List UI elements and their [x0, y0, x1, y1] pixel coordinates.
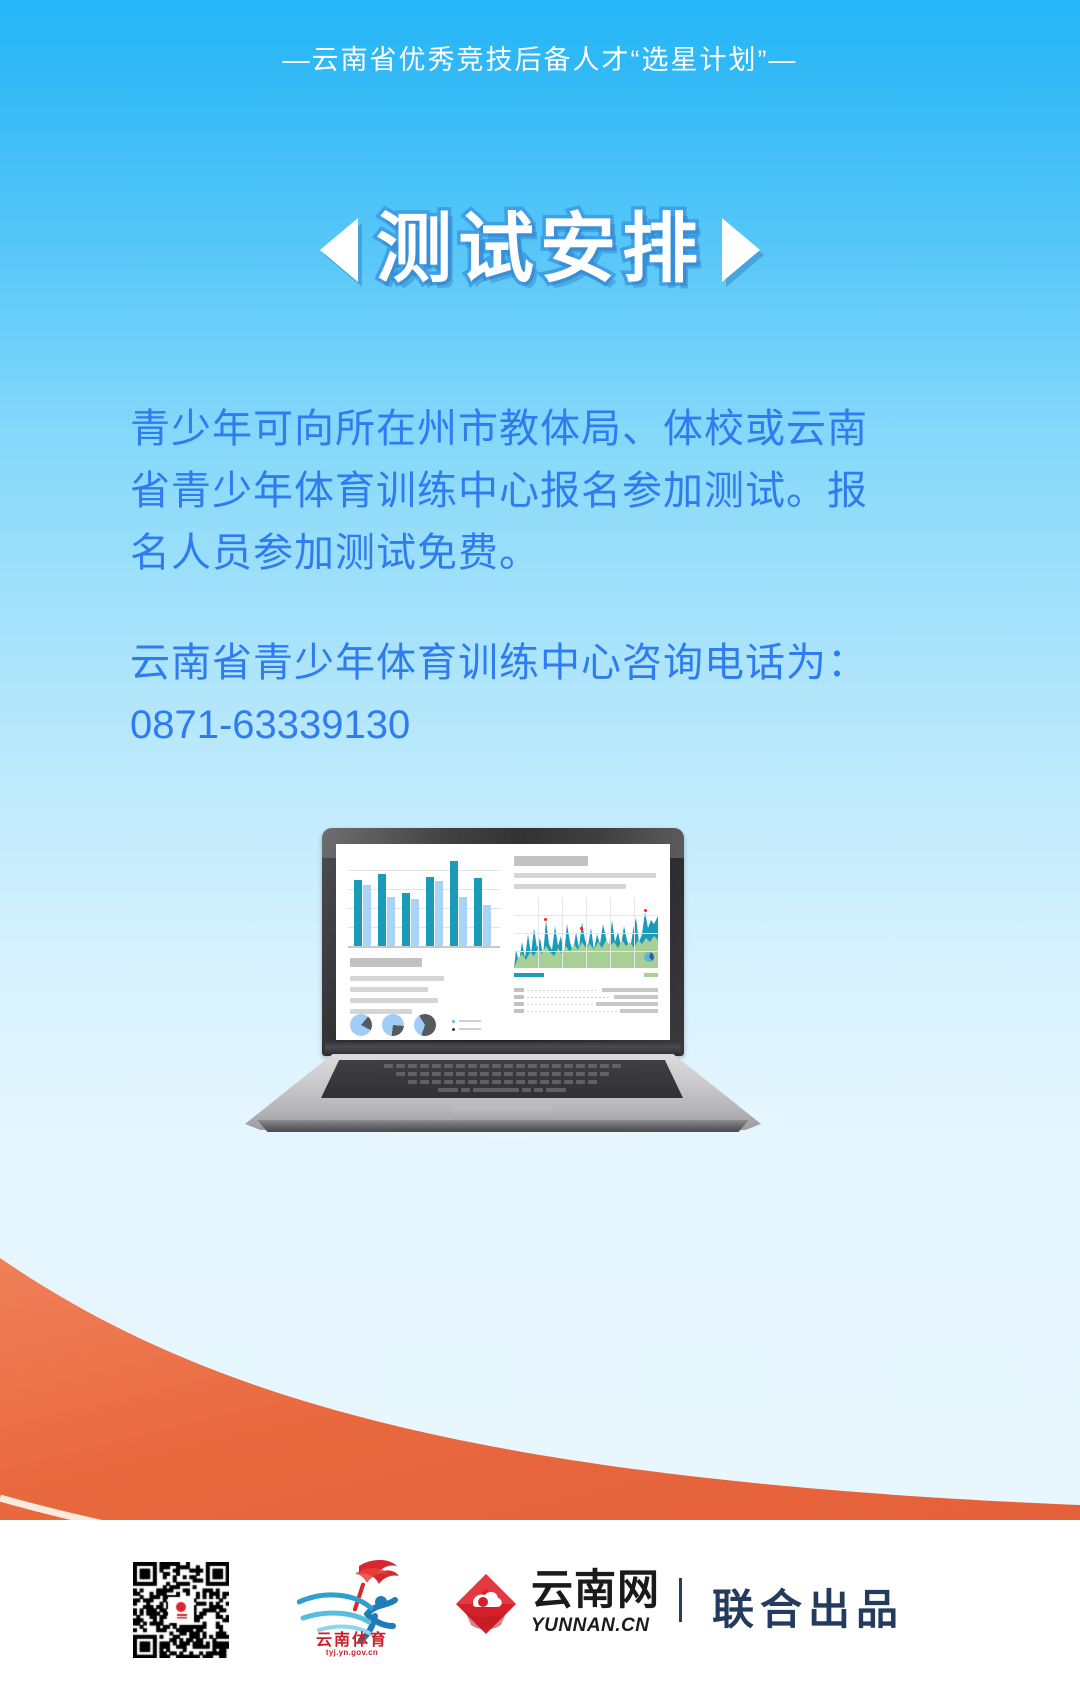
text-placeholder — [350, 958, 422, 967]
pie-chart — [414, 1014, 436, 1036]
data-point-marker — [544, 918, 547, 921]
data-point-marker — [580, 927, 583, 930]
text-placeholder — [350, 987, 428, 992]
data-point-marker — [644, 909, 647, 912]
laptop-hinge — [325, 1042, 681, 1056]
pie-chart — [382, 1014, 404, 1036]
table-row — [514, 995, 658, 999]
text-placeholder — [350, 976, 444, 981]
pie-chart — [350, 1014, 372, 1036]
laptop-vent — [291, 1123, 471, 1127]
pie-chart-group — [350, 1014, 481, 1036]
laptop-trackpad — [453, 1106, 553, 1115]
paragraph-spacer — [130, 584, 890, 632]
hotline-number[interactable]: 0871-63339130 — [130, 694, 890, 756]
table-row — [514, 988, 658, 992]
page-title-text: 测试安排 — [376, 212, 704, 288]
laptop-port — [677, 1124, 723, 1127]
text-placeholder — [514, 873, 656, 878]
dashboard-canvas — [336, 844, 670, 1040]
yunnan-net-cn: 云南网 — [531, 1570, 660, 1612]
area-chart-legend — [514, 973, 658, 977]
sports-logo-label: 云南体育 — [297, 1626, 407, 1650]
text-placeholder — [350, 998, 438, 1003]
paragraph-registration: 青少年可向所在州市教体局、体校或云南省青少年体育训练中心报名参加测试。报名人员参… — [130, 398, 890, 584]
page-title: 测试安排 — [0, 212, 1080, 288]
poster-root: —云南省优秀竞技后备人才“选星计划”— 测试安排 青少年可向所在州市教体局、体校… — [0, 0, 1080, 1701]
triangle-right-icon — [722, 218, 760, 282]
triangle-left-icon — [320, 218, 358, 282]
joint-production-label: 联合出品 — [712, 1576, 904, 1637]
laptop-keyboard — [321, 1060, 683, 1098]
laptop-lid — [322, 828, 684, 1056]
text-placeholder — [514, 856, 588, 866]
mini-pie-icon — [644, 952, 654, 962]
area-chart — [514, 898, 658, 968]
bar-chart — [348, 856, 500, 948]
data-table — [514, 988, 658, 1016]
pie-legend — [452, 1020, 481, 1031]
paragraph-hotline-label: 云南省青少年体育训练中心咨询电话为： — [130, 632, 890, 694]
body-copy: 青少年可向所在州市教体局、体校或云南省青少年体育训练中心报名参加测试。报名人员参… — [130, 398, 890, 756]
footer-divider — [679, 1578, 682, 1622]
eyebrow-heading: —云南省优秀竞技后备人才“选星计划”— — [0, 38, 1080, 77]
yunnan-net-en: YUNNAN.CN — [531, 1615, 660, 1637]
yunnan-net-wordmark: 云南网 YUNNAN.CN — [531, 1570, 660, 1637]
text-placeholder — [514, 884, 626, 889]
sports-logo-url: tyj.yn.gov.cn — [297, 1648, 407, 1657]
yunnan-net-diamond-icon — [455, 1573, 517, 1635]
orange-wave-graphic — [0, 1180, 1080, 1520]
qr-code[interactable] — [133, 1562, 229, 1658]
laptop-dashboard-illustration — [225, 828, 795, 1148]
laptop-screen — [336, 844, 670, 1040]
table-row — [514, 1009, 658, 1013]
yunnan-net-logo: 云南网 YUNNAN.CN — [455, 1570, 660, 1637]
table-row — [514, 1002, 658, 1006]
